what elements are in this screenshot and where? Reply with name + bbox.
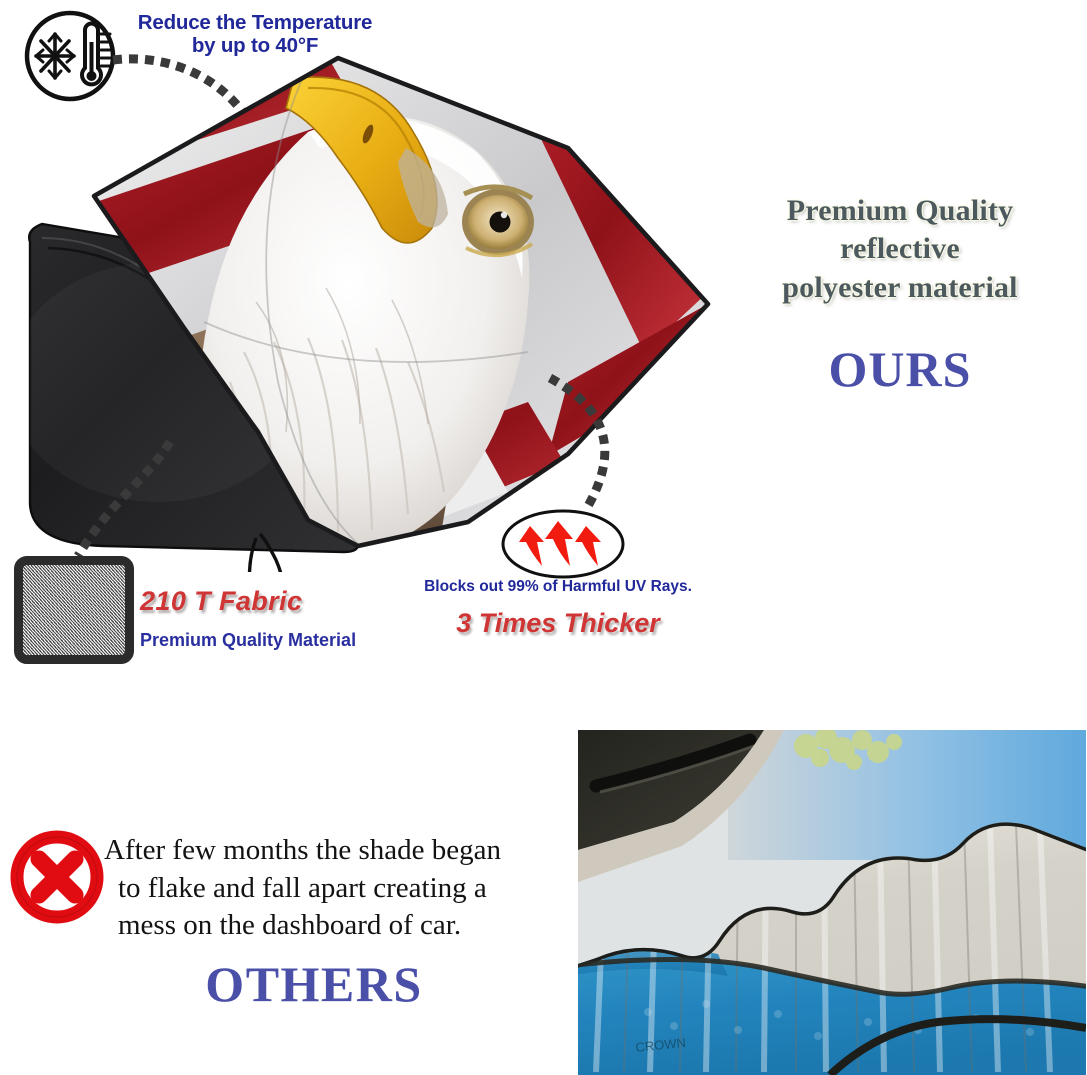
ours-headline-line-1: Premium Quality [716,192,1084,230]
others-paragraph-line-1: After few months the shade began [104,832,586,870]
ours-headline-line-2: reflective [716,230,1084,268]
uv-blocking-text: Blocks out 99% of Harmful UV Rays. [398,578,718,596]
ours-headline-line-3: polyester material [716,269,1084,307]
ours-label: OURS [716,340,1084,398]
others-worn-shade-photo: CROWN [578,730,1086,1075]
others-paragraph-line-3: mess on the dashboard of car. [104,907,586,945]
fabric-title: 210 T Fabric [140,586,380,617]
woven-fabric-swatch [14,556,134,664]
reduce-temperature-line-1: Reduce the Temperature [120,12,390,35]
leader-line-fabric [52,436,182,564]
leader-line-uv [540,372,670,514]
three-up-arrows-icon [500,508,626,580]
three-times-thicker-text: 3 Times Thicker [398,608,718,639]
red-circle-x-icon [8,828,106,926]
others-paragraph-line-2: to flake and fall apart creating a [104,870,586,908]
fabric-subtitle: Premium Quality Material [140,630,400,651]
others-paragraph: After few months the shade began to flak… [104,832,586,945]
ours-headline: Premium Quality reflective polyester mat… [716,192,1084,307]
others-label: OTHERS [104,955,524,1013]
infographic-canvas: Reduce the Temperature by up to 40°F [0,0,1087,1075]
